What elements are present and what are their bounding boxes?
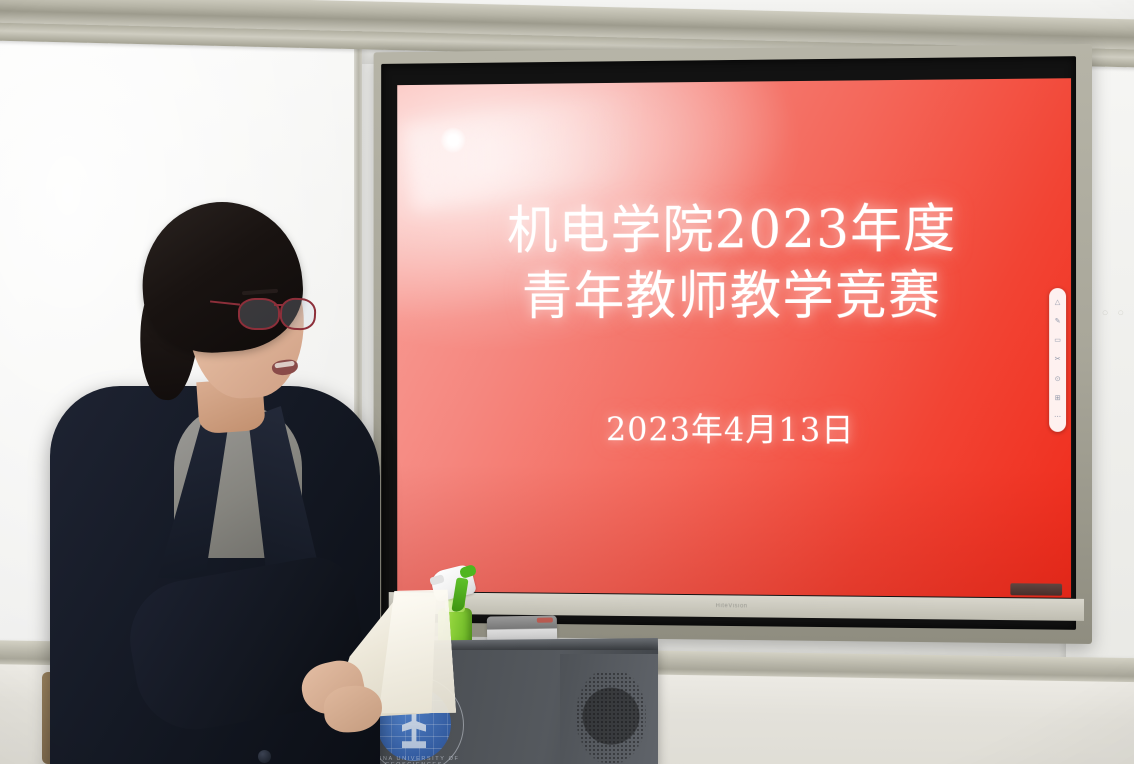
speaker-grille-perforation xyxy=(576,672,646,764)
emblem-text-english: CHINA UNIVERSITY OF GEOSCIENCES xyxy=(366,756,462,764)
slide-title: 机电学院2023年度 青年教师教学竞赛 xyxy=(507,197,956,330)
display-side-toolbar[interactable]: △ ✎ ▭ ✂ ⊙ ⊞ ⋯ xyxy=(1049,288,1066,432)
speaker-person xyxy=(14,190,374,764)
cursor-icon[interactable]: △ xyxy=(1055,299,1060,306)
capture-icon[interactable]: ⊙ xyxy=(1055,376,1061,383)
slide-content: 机电学院2023年度 青年教师教学竞赛 2023年4月13日 xyxy=(397,78,1071,598)
display-screen[interactable]: 机电学院2023年度 青年教师教学竞赛 2023年4月13日 △ ✎ ▭ ✂ ⊙… xyxy=(397,78,1071,598)
eyeglasses-bridge xyxy=(274,304,283,306)
eyeglasses-left-lens xyxy=(238,298,280,330)
shapes-icon[interactable]: ✂ xyxy=(1055,356,1061,363)
classroom-photo: ○ ○ ○ 机电学院2023年度 青年教师教学竞赛 2023年4月13日 △ xyxy=(0,0,1134,764)
eyeglasses-right-lens xyxy=(279,297,317,331)
whiteboard-faint-writing: ○ ○ ○ xyxy=(1086,300,1127,326)
display-brand-label: HiteVision xyxy=(716,603,748,609)
eraser-icon[interactable]: ▭ xyxy=(1054,337,1061,344)
hair xyxy=(137,197,307,358)
apps-icon[interactable]: ⊞ xyxy=(1055,395,1061,402)
slide-title-line1: 机电学院2023年度 xyxy=(507,197,956,265)
pen-icon[interactable]: ✎ xyxy=(1055,318,1061,325)
display-bezel: 机电学院2023年度 青年教师教学竞赛 2023年4月13日 △ ✎ ▭ ✂ ⊙… xyxy=(381,56,1076,630)
display-ports xyxy=(1010,583,1062,595)
slide-date: 2023年4月13日 xyxy=(606,402,855,450)
interactive-flat-panel-display[interactable]: 机电学院2023年度 青年教师教学竞赛 2023年4月13日 △ ✎ ▭ ✂ ⊙… xyxy=(374,44,1092,644)
more-icon[interactable]: ⋯ xyxy=(1054,414,1061,421)
blazer-button xyxy=(258,750,271,763)
slide-title-line2: 青年教师教学竞赛 xyxy=(507,263,956,330)
